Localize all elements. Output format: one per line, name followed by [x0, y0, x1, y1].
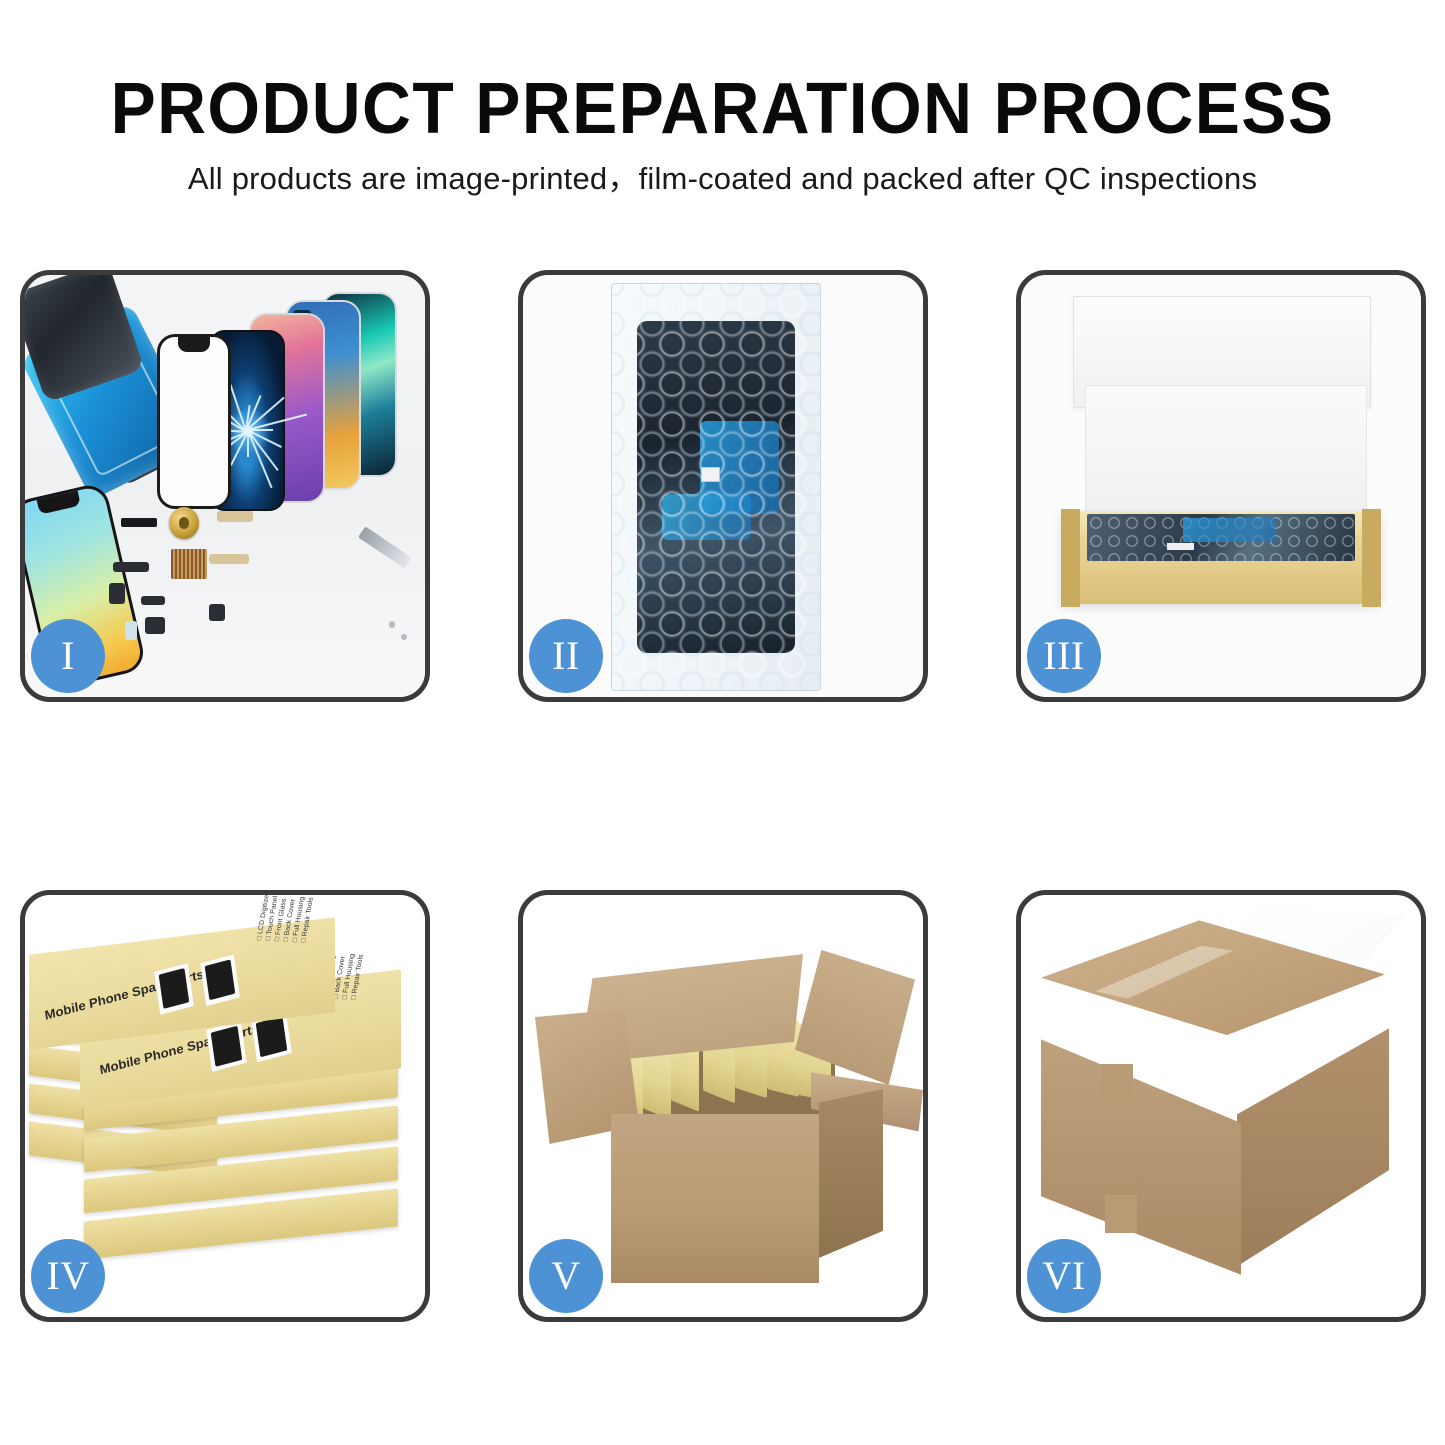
process-grid: 08 08	[0, 0, 1445, 1445]
retail-box-photo-1b	[200, 954, 239, 1005]
step-badge-4: IV	[31, 1239, 105, 1313]
infographic-page: PRODUCT PREPARATION PROCESS All products…	[0, 0, 1445, 1445]
product-label-sticker	[701, 467, 720, 482]
step-badge-5: V	[529, 1239, 603, 1313]
process-step-panel-3[interactable]: III	[1016, 270, 1426, 702]
taptic-engine-part	[169, 507, 199, 539]
carton-label-upper	[1101, 1064, 1133, 1106]
flex-cable-part-6	[145, 617, 165, 634]
process-step-panel-2[interactable]: II	[518, 270, 928, 702]
mailer-box-lid-inner	[1085, 385, 1367, 530]
camera-module-part	[209, 604, 225, 621]
carton-label-lower	[1105, 1195, 1137, 1233]
step-badge-1: I	[31, 619, 105, 693]
bubble-wrap-bag	[611, 283, 821, 690]
flex-cable-part-1	[217, 511, 253, 522]
retail-box-stack: Mobile Phone Spare Parts □ LCD Digitizer…	[29, 920, 421, 1300]
step-badge-3: III	[1027, 619, 1101, 693]
carton-side-panel	[819, 1089, 883, 1258]
flex-cable-part-2	[209, 554, 249, 564]
flex-cable-part-3	[113, 562, 149, 572]
retail-box-photo-2a	[206, 1020, 247, 1071]
chip-grid-part	[171, 549, 207, 579]
process-step-panel-5[interactable]: V	[518, 890, 928, 1322]
process-step-panel-6[interactable]: VI	[1016, 890, 1426, 1322]
sim-tray-part	[125, 621, 137, 640]
bubble-texture-secondary-icon	[612, 284, 820, 689]
front-glass-panel	[157, 334, 231, 509]
process-step-panel-4[interactable]: Mobile Phone Spare Parts □ LCD Digitizer…	[20, 890, 430, 1322]
process-step-panel-1[interactable]: 08 08	[20, 270, 430, 702]
retail-box-checklist-1: □ LCD Digitizer□ Touch Panel□ Front Glas…	[255, 895, 316, 943]
carton-front-panel	[611, 1114, 819, 1283]
flex-cable-part-5	[141, 596, 165, 605]
flex-cable-part-4	[109, 583, 125, 604]
step-badge-6: VI	[1027, 1239, 1101, 1313]
mailer-box-base	[1061, 511, 1381, 604]
retail-box-photo-1a	[155, 963, 194, 1014]
step-badge-2: II	[529, 619, 603, 693]
wrapped-product-inside	[1087, 514, 1356, 560]
earpiece-speaker-part	[121, 518, 157, 527]
